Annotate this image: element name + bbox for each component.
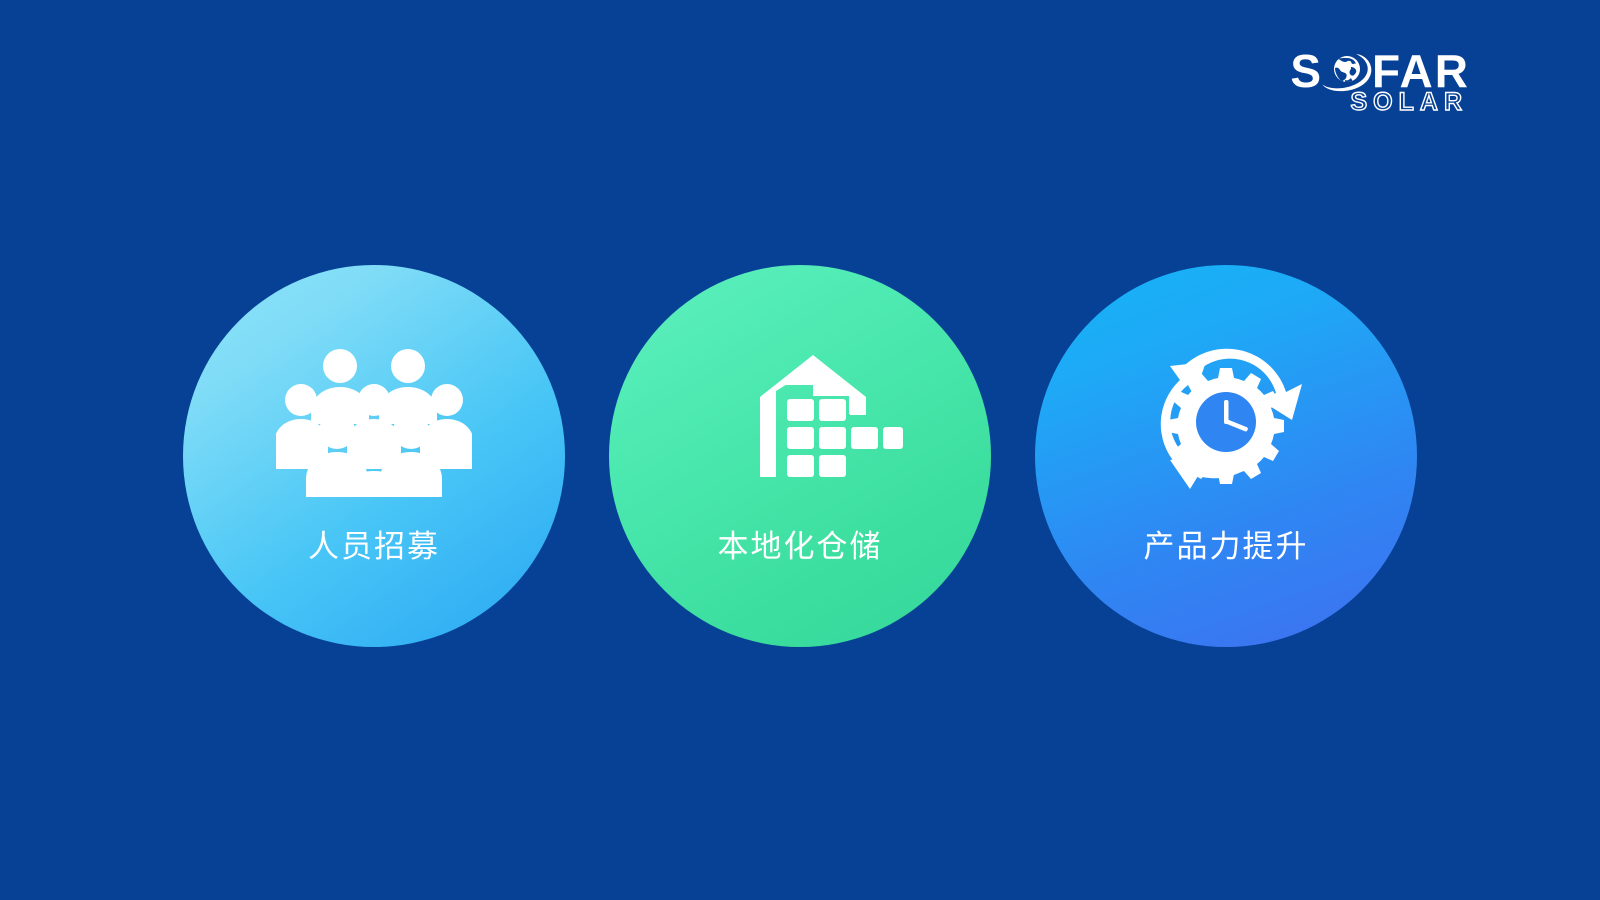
gear-clock-cycle-icon [1121, 347, 1331, 497]
feature-circle-warehousing[interactable]: 本地化仓储 [609, 265, 991, 647]
group-of-people-icon [269, 347, 479, 497]
feature-circle-product-capability[interactable]: 产品力提升 [1035, 265, 1417, 647]
feature-label-product-capability: 产品力提升 [1144, 531, 1309, 562]
globe-orbit-icon [1321, 48, 1373, 94]
brand-logo: S FAR SOLAR [1230, 48, 1470, 120]
feature-label-recruitment: 人员招募 [308, 531, 440, 562]
logo-letter-s: S [1290, 48, 1323, 94]
feature-label-warehousing: 本地化仓储 [718, 531, 883, 562]
warehouse-truck-icon [695, 347, 905, 497]
feature-circle-row: 人员招募 本地化仓储 [0, 265, 1600, 647]
feature-circle-recruitment[interactable]: 人员招募 [183, 265, 565, 647]
